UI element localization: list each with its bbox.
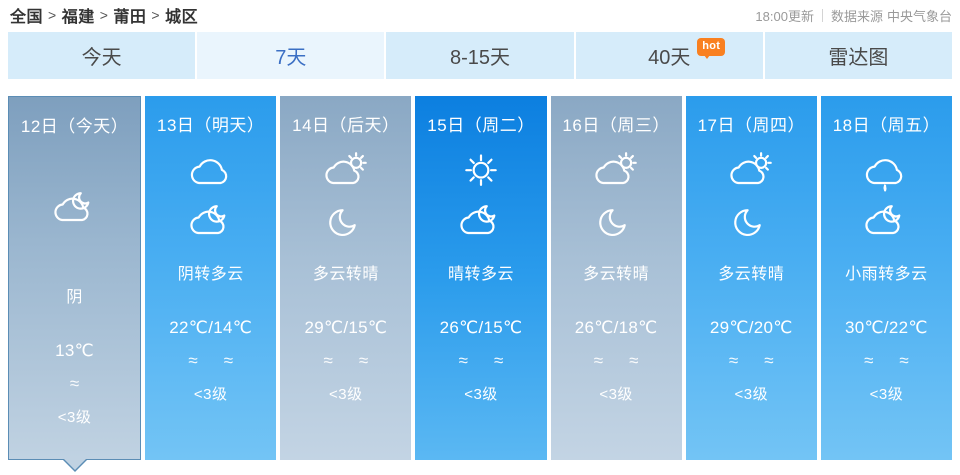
wind-icon: ≈: [764, 352, 773, 369]
day-date: 16日（周三）: [562, 111, 669, 136]
day-condition: 多云转晴: [313, 260, 379, 284]
wind-icon: ≈: [864, 352, 873, 369]
day-icons: [317, 150, 375, 244]
breadcrumb-separator: >: [48, 7, 57, 23]
forecast-day-column[interactable]: 14日（后天）多云转晴29℃/15℃≈≈<3级: [280, 96, 411, 460]
day-wind-symbols: ≈≈: [864, 352, 909, 369]
tab-8-15天[interactable]: 8-15天: [386, 32, 575, 79]
tab-label: 40天: [648, 41, 690, 70]
tab-40天[interactable]: 40天hot: [576, 32, 765, 79]
cloud-moon-icon: [46, 151, 104, 267]
tab-label: 8-15天: [450, 41, 510, 70]
breadcrumb-item-1[interactable]: 福建: [62, 3, 95, 27]
moon-icon: [587, 200, 645, 244]
day-wind-symbols: ≈≈: [729, 352, 774, 369]
wind-icon: ≈: [459, 352, 468, 369]
wind-icon: ≈: [494, 352, 503, 369]
day-condition: 多云转晴: [718, 260, 784, 284]
cloud-moon-icon: [857, 200, 915, 244]
day-temperature: 26℃/18℃: [575, 318, 658, 338]
day-date: 12日（今天）: [21, 112, 128, 137]
breadcrumb-separator: >: [151, 7, 160, 23]
day-temperature: 22℃/14℃: [169, 318, 252, 338]
tab-今天[interactable]: 今天: [8, 32, 197, 79]
forecast-day-column[interactable]: 18日（周五）小雨转多云30℃/22℃≈≈<3级: [821, 96, 952, 460]
day-date: 17日（周四）: [698, 111, 805, 136]
day-wind-symbols: ≈≈: [459, 352, 504, 369]
wind-icon: ≈: [594, 352, 603, 369]
tab-雷达图[interactable]: 雷达图: [765, 32, 952, 79]
wind-icon: ≈: [224, 352, 233, 369]
day-temperature: 29℃/20℃: [710, 318, 793, 338]
day-wind-level: <3级: [464, 383, 498, 404]
breadcrumb-item-0[interactable]: 全国: [10, 3, 43, 27]
day-temperature: 29℃/15℃: [304, 318, 387, 338]
day-temperature: 26℃/15℃: [440, 318, 523, 338]
day-icons: [722, 150, 780, 244]
day-condition: 多云转晴: [583, 260, 649, 284]
day-icons: [857, 150, 915, 244]
source-label: 数据来源: [831, 6, 883, 25]
forecast-day-column[interactable]: 17日（周四）多云转晴29℃/20℃≈≈<3级: [686, 96, 817, 460]
seven-day-forecast: 12日（今天）阴13℃≈<3级13日（明天）阴转多云22℃/14℃≈≈<3级14…: [8, 96, 952, 460]
forecast-day-column[interactable]: 12日（今天）阴13℃≈<3级: [8, 96, 141, 460]
day-condition: 晴转多云: [448, 260, 514, 284]
day-temperature: 30℃/22℃: [845, 318, 928, 338]
day-icons: [46, 151, 104, 267]
hot-badge: hot: [697, 38, 725, 56]
day-wind-symbols: ≈≈: [594, 352, 639, 369]
wind-icon: ≈: [70, 375, 79, 392]
day-wind-level: <3级: [58, 406, 92, 427]
day-condition: 小雨转多云: [845, 260, 928, 284]
day-wind-symbols: ≈≈: [324, 352, 369, 369]
rain-icon: [857, 150, 915, 194]
header-meta: 18:00更新 数据来源 中央气象台: [755, 6, 960, 25]
meta-divider: [822, 9, 823, 22]
day-date: 14日（后天）: [292, 111, 399, 136]
day-wind-level: <3级: [734, 383, 768, 404]
cloud-icon: [182, 150, 240, 194]
forecast-day-column[interactable]: 13日（明天）阴转多云22℃/14℃≈≈<3级: [145, 96, 276, 460]
day-temperature: 13℃: [55, 341, 94, 361]
day-condition: 阴转多云: [178, 260, 244, 284]
forecast-day-column[interactable]: 16日（周三）多云转晴26℃/18℃≈≈<3级: [551, 96, 682, 460]
day-wind-symbols: ≈≈: [188, 352, 233, 369]
wind-icon: ≈: [899, 352, 908, 369]
cloud-sun-icon: [587, 150, 645, 194]
day-condition: 阴: [66, 283, 83, 307]
day-wind-symbols: ≈: [70, 375, 79, 392]
selected-day-pointer: [62, 459, 88, 472]
wind-icon: ≈: [729, 352, 738, 369]
forecast-day-column[interactable]: 15日（周二）晴转多云26℃/15℃≈≈<3级: [415, 96, 546, 460]
breadcrumb: 全国>福建>莆田>城区: [0, 3, 198, 27]
weather-forecast-page: 全国>福建>莆田>城区 18:00更新 数据来源 中央气象台 今天7天8-15天…: [0, 0, 960, 475]
day-icons: [182, 150, 240, 244]
tab-label: 今天: [82, 41, 122, 70]
tab-label: 雷达图: [828, 41, 888, 70]
tab-7天[interactable]: 7天: [197, 32, 386, 79]
day-wind-level: <3级: [870, 383, 904, 404]
day-wind-level: <3级: [194, 383, 228, 404]
moon-icon: [317, 200, 375, 244]
day-icons: [452, 150, 510, 244]
forecast-range-tabs: 今天7天8-15天40天hot雷达图: [8, 32, 952, 79]
cloud-moon-icon: [452, 200, 510, 244]
moon-icon: [722, 200, 780, 244]
wind-icon: ≈: [629, 352, 638, 369]
wind-icon: ≈: [359, 352, 368, 369]
page-header: 全国>福建>莆田>城区 18:00更新 数据来源 中央气象台: [0, 0, 960, 30]
day-icons: [587, 150, 645, 244]
day-wind-level: <3级: [329, 383, 363, 404]
wind-icon: ≈: [324, 352, 333, 369]
breadcrumb-item-3[interactable]: 城区: [165, 3, 198, 27]
cloud-sun-icon: [317, 150, 375, 194]
tab-label: 7天: [275, 41, 306, 70]
day-date: 15日（周二）: [427, 111, 534, 136]
wind-icon: ≈: [188, 352, 197, 369]
breadcrumb-item-2[interactable]: 莆田: [113, 3, 146, 27]
update-time: 18:00更新: [755, 6, 814, 25]
sun-icon: [452, 150, 510, 194]
day-wind-level: <3级: [599, 383, 633, 404]
cloud-moon-icon: [182, 200, 240, 244]
source-name: 中央气象台: [887, 6, 952, 25]
day-date: 18日（周五）: [833, 111, 940, 136]
breadcrumb-separator: >: [100, 7, 109, 23]
day-date: 13日（明天）: [157, 111, 264, 136]
cloud-sun-icon: [722, 150, 780, 194]
